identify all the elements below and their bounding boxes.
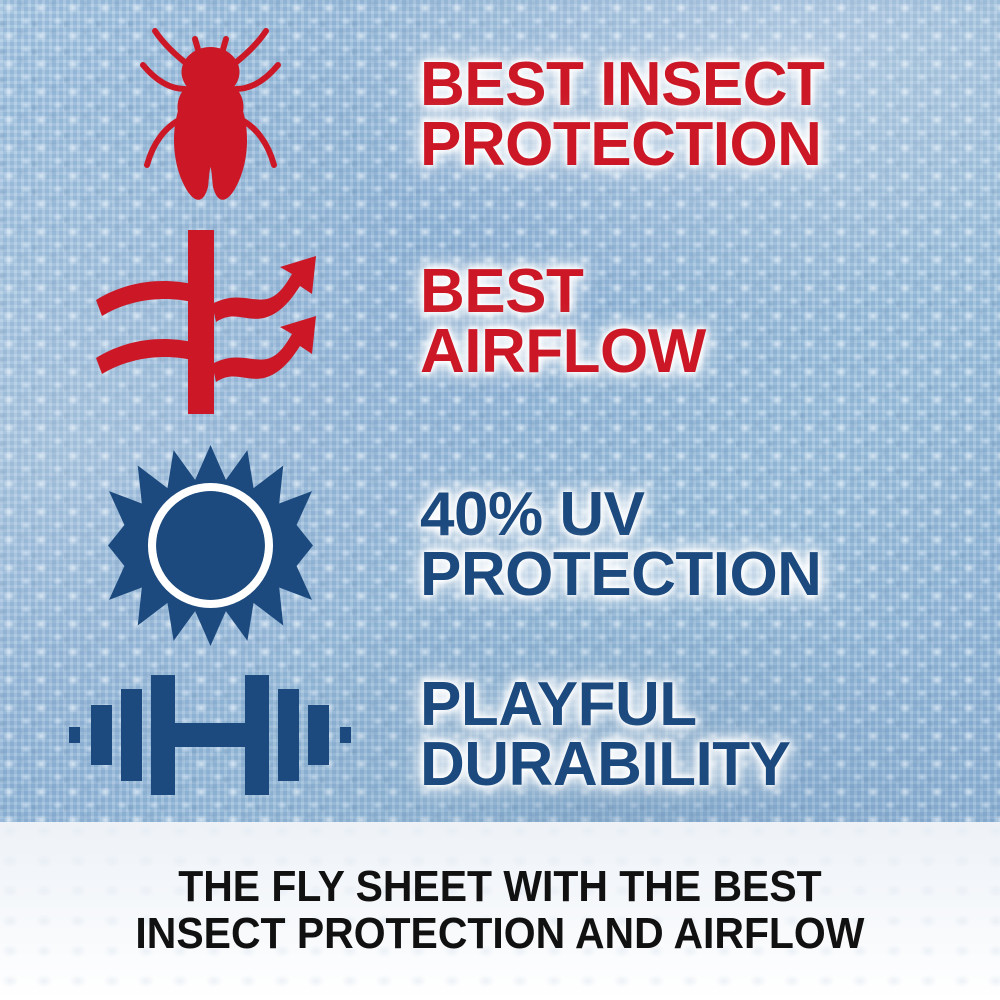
feature-icon-cell bbox=[0, 222, 420, 422]
feature-icon-cell bbox=[0, 443, 420, 648]
product-feature-poster: BEST INSECT PROTECTION bbox=[0, 0, 1000, 1000]
airflow-membrane-bar bbox=[188, 230, 214, 414]
caption-band: THE FLY SHEET WITH THE BEST INSECT PROTE… bbox=[0, 822, 1000, 1000]
dumbbell-icon bbox=[65, 665, 355, 805]
feature-text-cell: BEST INSECT PROTECTION bbox=[420, 55, 1000, 174]
feature-text-cell: BEST AIRFLOW bbox=[420, 262, 1000, 381]
feature-label-uv-protection: 40% UV PROTECTION bbox=[420, 485, 970, 604]
feature-label-insect-protection: BEST INSECT PROTECTION bbox=[420, 55, 970, 174]
feature-list: BEST INSECT PROTECTION bbox=[0, 0, 1000, 822]
feature-text-cell: PLAYFUL DURABILITY bbox=[420, 675, 1000, 794]
feature-row-airflow: BEST AIRFLOW bbox=[0, 222, 1000, 422]
feature-icon-cell bbox=[0, 15, 420, 215]
airflow-icon bbox=[88, 222, 333, 422]
feature-text-cell: 40% UV PROTECTION bbox=[420, 485, 1000, 604]
feature-label-durability: PLAYFUL DURABILITY bbox=[420, 675, 970, 794]
feature-row-uv-protection: 40% UV PROTECTION bbox=[0, 440, 1000, 650]
feature-icon-cell bbox=[0, 665, 420, 805]
caption-headline: THE FLY SHEET WITH THE BEST INSECT PROTE… bbox=[113, 864, 887, 957]
feature-label-airflow: BEST AIRFLOW bbox=[420, 262, 970, 381]
feature-row-durability: PLAYFUL DURABILITY bbox=[0, 655, 1000, 815]
feature-row-insect-protection: BEST INSECT PROTECTION bbox=[0, 10, 1000, 220]
fly-icon bbox=[123, 15, 298, 215]
sun-uv-icon bbox=[103, 443, 318, 648]
